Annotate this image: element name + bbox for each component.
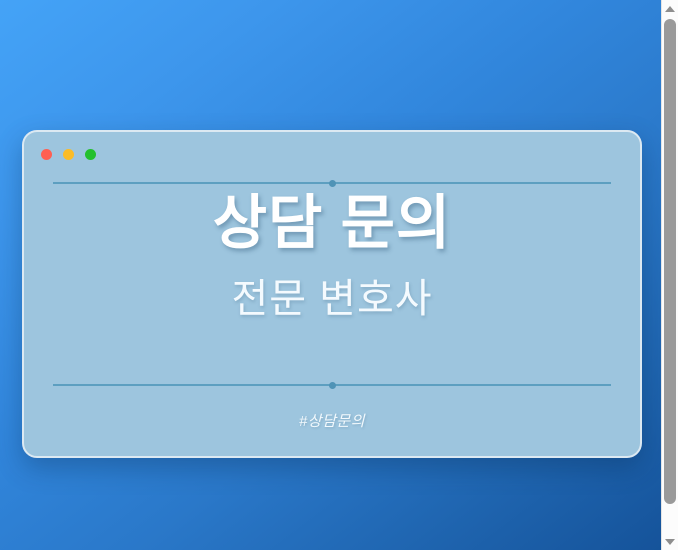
divider-node-icon: [329, 180, 336, 187]
minimize-button[interactable]: [63, 149, 74, 160]
chevron-up-icon: [665, 6, 675, 12]
scroll-down-button[interactable]: [662, 533, 678, 550]
page-title: 상담 문의: [24, 194, 640, 253]
hashtag-label: #상담문의: [24, 410, 640, 431]
window-controls: [41, 149, 96, 160]
vertical-scrollbar[interactable]: [661, 0, 678, 550]
divider-top: [53, 182, 611, 184]
card-text-block: 상담 문의 전문 변호사: [24, 194, 640, 319]
page-viewport: 상담 문의 전문 변호사 #상담문의: [0, 0, 661, 550]
maximize-button[interactable]: [85, 149, 96, 160]
close-button[interactable]: [41, 149, 52, 160]
chevron-down-icon: [665, 539, 675, 545]
divider-bottom: [53, 384, 611, 386]
divider-node-icon: [329, 382, 336, 389]
scrollbar-thumb[interactable]: [664, 19, 676, 504]
presentation-card: 상담 문의 전문 변호사 #상담문의: [22, 130, 642, 458]
scroll-up-button[interactable]: [662, 0, 678, 17]
page-subtitle: 전문 변호사: [24, 279, 640, 319]
